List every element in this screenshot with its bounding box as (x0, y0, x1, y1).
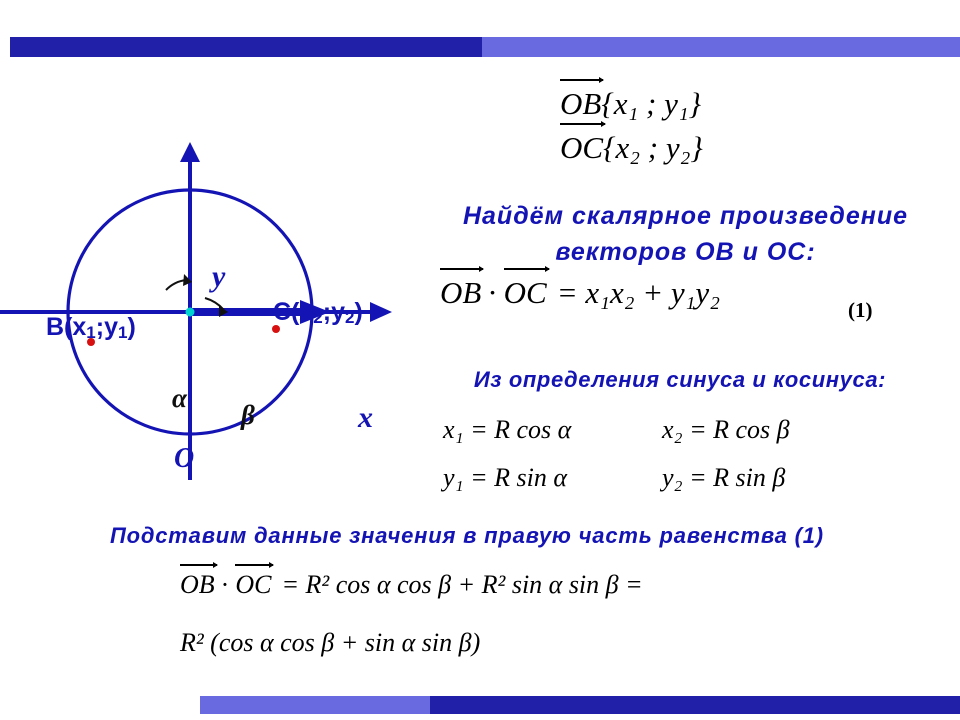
dot-operator-2: · (215, 570, 236, 599)
label-point-b-sub1: 1 (86, 323, 95, 342)
label-origin: O (174, 443, 194, 475)
vector-ob-label-3: OB (180, 570, 215, 600)
final-line-1-rhs: = R² cos α cos β + R² sin α sin β = (271, 570, 642, 599)
top-bar-dark (10, 37, 482, 57)
formula-x2: x₂ = R cos β (662, 415, 790, 445)
vector-oc-label-3: OC (235, 570, 271, 600)
text-find-scalar-product: Найдём скалярное произведение векторов О… (398, 198, 960, 271)
label-point-c: C(x2;y2) (273, 298, 363, 327)
angle-alpha-arc (166, 280, 186, 290)
formula-final-line-2: R² (cos α cos β + sin α sin β) (180, 628, 480, 658)
text-substitute-values: Подставим данные значения в правую часть… (110, 523, 824, 549)
top-bar-light (482, 37, 960, 57)
formula-x1: x₁ = R cos α (443, 415, 571, 445)
label-point-b-sub2: 1 (118, 323, 127, 342)
vector-oc-label-2: OC (504, 275, 547, 311)
label-axis-y: y (212, 260, 225, 294)
label-angle-alpha: α (172, 383, 187, 414)
vector-ob-label: OB (560, 86, 601, 122)
formula-dot-product: OB·OC= x₁x₂ + y₁y₂ (440, 275, 720, 311)
formula-ob-components: OB{x₁ ; y₁} (560, 86, 701, 122)
formula-final-line-1: OB·OC= R² cos α cos β + R² sin α sin β = (180, 570, 643, 600)
formula-y2: y₂ = R sin β (662, 463, 785, 493)
vector-ob-label-2: OB (440, 275, 481, 311)
formula-oc-components: OC{x₂ ; y₂} (560, 130, 703, 166)
coordinate-circle-figure: B(x1;y1) C(x2;y2) x y O α β (0, 120, 400, 520)
ob-components-body: {x₁ ; y₁} (601, 86, 701, 121)
dot-operator: · (481, 275, 503, 310)
bottom-bar-light (200, 696, 430, 714)
point-o-marker (186, 308, 195, 317)
bottom-bar-dark (430, 696, 960, 714)
oc-components-body: {x₂ ; y₂} (603, 130, 703, 165)
text-from-definition: Из определения синуса и косинуса: (430, 365, 930, 395)
label-point-b: B(x1;y1) (46, 313, 136, 342)
label-angle-beta: β (241, 400, 255, 431)
equation-number-1: (1) (848, 298, 873, 323)
label-axis-x: x (358, 401, 373, 435)
vector-oc-label: OC (560, 130, 603, 166)
y-axis-arrow (180, 142, 200, 162)
slide: B(x1;y1) C(x2;y2) x y O α β OB{x₁ ; y₁} … (0, 0, 960, 720)
formula-y1: y₁ = R sin α (443, 463, 567, 493)
x-axis-arrow (370, 302, 392, 322)
label-point-c-sub1: 2 (313, 308, 322, 327)
dot-product-rhs: = x₁x₂ + y₁y₂ (547, 275, 720, 310)
label-point-c-sub2: 2 (345, 308, 354, 327)
